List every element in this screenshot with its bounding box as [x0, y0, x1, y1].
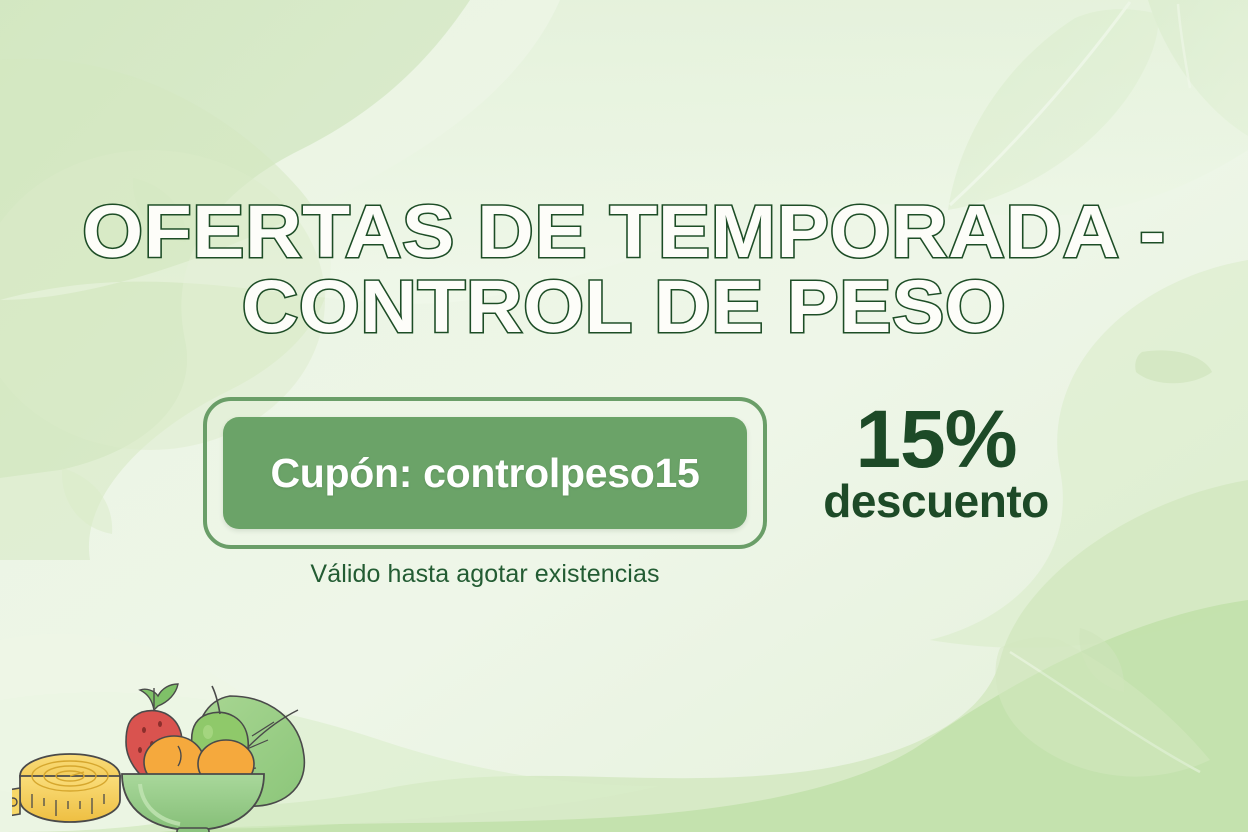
discount-word: descuento — [790, 478, 1082, 524]
discount-percent: 15% — [790, 404, 1082, 476]
banner-headline: OFERTAS DE TEMPORADA - CONTROL DE PESO — [0, 196, 1248, 342]
healthy-lifestyle-illustration — [12, 648, 312, 832]
headline-line-2: CONTROL DE PESO — [0, 271, 1248, 342]
measuring-tape-icon — [12, 754, 120, 822]
coupon-code-button[interactable]: Cupón: controlpeso15 — [223, 417, 747, 529]
coupon-code-label: Cupón: controlpeso15 — [270, 450, 699, 497]
discount-block: 15% descuento — [790, 404, 1082, 524]
fruit-bowl-icon — [122, 774, 264, 832]
validity-note: Válido hasta agotar existencias — [203, 560, 767, 589]
headline-line-1: OFERTAS DE TEMPORADA - — [0, 196, 1248, 267]
promo-banner: OFERTAS DE TEMPORADA - CONTROL DE PESO C… — [0, 0, 1248, 832]
